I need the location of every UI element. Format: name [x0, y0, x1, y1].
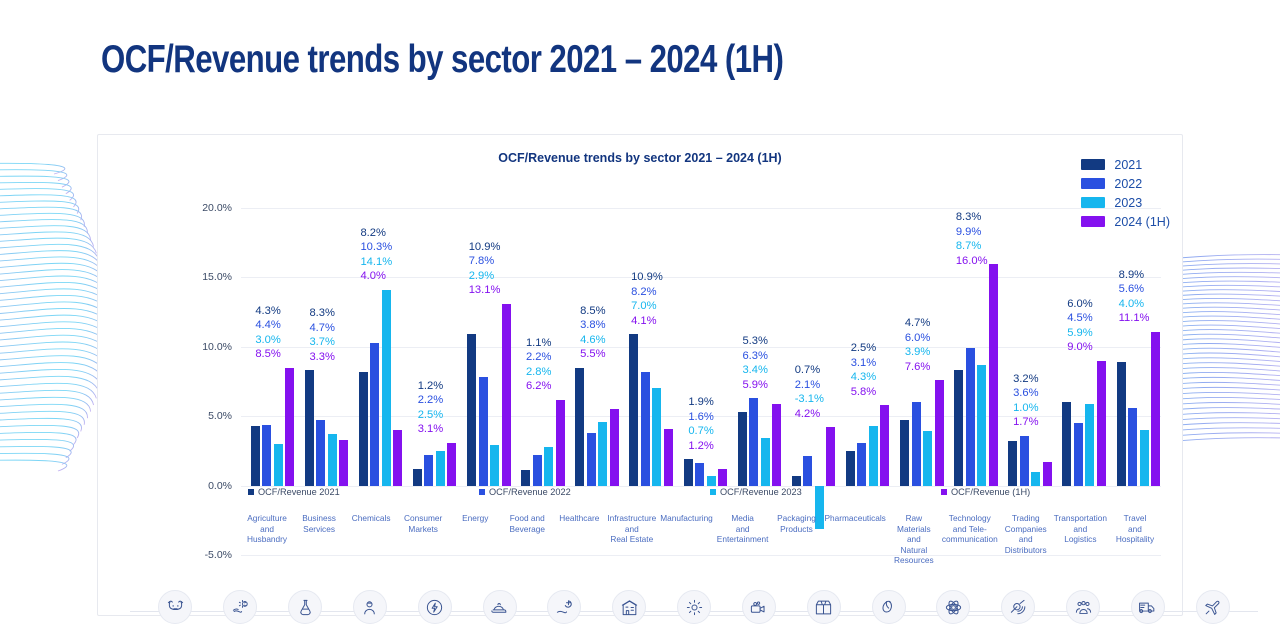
value-label-stack: 8.2%10.3%14.1%4.0% [360, 226, 392, 284]
truck-icon[interactable] [1131, 590, 1165, 624]
bar-2022[interactable] [912, 402, 921, 485]
plot-area: 20.0%15.0%10.0%5.0%0.0%-5.0% 4.3%4.4%3.0… [241, 208, 1161, 555]
value-label-stack: 2.5%3.1%4.3%5.8% [851, 341, 877, 399]
bars [1053, 208, 1107, 555]
chart-legend-bottom: OCF/Revenue 2021OCF/Revenue 2022OCF/Reve… [248, 487, 1172, 497]
pill-icon[interactable] [872, 590, 906, 624]
y-axis-tick: 10.0% [202, 341, 232, 353]
bar-2024-1h-[interactable] [718, 469, 727, 486]
category-label: TradingCompaniesandDistributors [1000, 513, 1052, 566]
bar-group: 1.1%2.2%2.8%6.2% [512, 208, 566, 555]
value-label: 4.4% [255, 318, 281, 333]
chart-title: OCF/Revenue trends by sector 2021 – 2024… [98, 151, 1182, 165]
bar-2021[interactable] [629, 334, 638, 485]
category-label: Healthcare [553, 513, 605, 566]
value-label: 5.9% [1067, 326, 1093, 341]
rail-icons [143, 590, 1245, 624]
value-label: 8.5% [255, 347, 281, 362]
value-label: 5.6% [1119, 282, 1150, 297]
page-title: OCF/Revenue trends by sector 2021 – 2024… [101, 38, 783, 82]
rail-icon-slot [1115, 590, 1180, 624]
bar-2024-1h-[interactable] [1043, 462, 1052, 486]
category-label: RawMaterialsandNaturalResources [888, 513, 940, 566]
bar-2022[interactable] [316, 420, 325, 485]
bars [891, 208, 945, 555]
bar-2023[interactable] [1031, 472, 1040, 486]
bar-group: 8.3%4.7%3.7%3.3% [295, 208, 349, 555]
cog-icon[interactable] [677, 590, 711, 624]
value-label: 6.0% [1067, 297, 1093, 312]
bar-2022[interactable] [749, 398, 758, 485]
value-label-stack: 10.9%8.2%7.0%4.1% [631, 270, 663, 328]
value-label: 4.7% [309, 321, 335, 336]
bar-2023[interactable] [274, 444, 283, 486]
y-axis-tick: 15.0% [202, 271, 232, 283]
value-label: 3.3% [309, 350, 335, 365]
rail-icon-slot [856, 590, 921, 624]
bar-2024-1h-[interactable] [610, 409, 619, 485]
bar-2024-1h-[interactable] [1097, 361, 1106, 486]
bars [674, 208, 728, 555]
rail-icon-slot [143, 590, 208, 624]
bar-2023[interactable] [923, 431, 932, 485]
legend-swatch-icon [1081, 197, 1105, 208]
value-label: 10.3% [360, 240, 392, 255]
bar-2024-1h-[interactable] [880, 405, 889, 486]
rail-icon-slot [597, 590, 662, 624]
value-label-stack: 5.3%6.3%3.4%5.9% [742, 334, 768, 392]
category-label: ConsumerMarkets [397, 513, 449, 566]
bar-2024-1h-[interactable] [285, 368, 294, 486]
value-label: 3.8% [580, 318, 606, 333]
value-label: -3.1% [795, 392, 824, 407]
bar-2021[interactable] [467, 334, 476, 485]
bar-2023[interactable] [652, 388, 661, 485]
bar-2022[interactable] [479, 377, 488, 485]
bars [620, 208, 674, 555]
value-label: 2.9% [469, 269, 501, 284]
bar-2021[interactable] [684, 459, 693, 485]
bar-groups: 4.3%4.4%3.0%8.5%8.3%4.7%3.7%3.3%8.2%10.3… [241, 208, 1161, 555]
value-label-stack: 8.9%5.6%4.0%11.1% [1119, 268, 1150, 326]
sector-icon-rail [130, 590, 1258, 632]
bar-2021[interactable] [521, 470, 530, 485]
value-label: 1.7% [1013, 415, 1039, 430]
y-axis-tick: 20.0% [202, 202, 232, 214]
value-label-stack: 8.3%4.7%3.7%3.3% [309, 306, 335, 364]
value-label: 16.0% [956, 254, 988, 269]
bars [295, 208, 349, 555]
bar-2022[interactable] [695, 463, 704, 485]
category-label: TravelandHospitality [1109, 513, 1161, 566]
legend-bottom-item[interactable]: OCF/Revenue 2022 [479, 487, 710, 497]
value-label: 6.2% [526, 379, 552, 394]
value-label: 3.9% [905, 345, 931, 360]
value-label: 7.8% [469, 254, 501, 269]
legend-swatch-icon [479, 489, 485, 495]
bar-group: 1.2%2.2%2.5%3.1% [403, 208, 457, 555]
rail-icon-slot [986, 590, 1051, 624]
bar-2024-1h-[interactable] [556, 400, 565, 486]
video-camera-icon[interactable] [742, 590, 776, 624]
value-label: 2.8% [526, 365, 552, 380]
legend-swatch-icon [1081, 159, 1105, 170]
bar-group: 10.9%7.8%2.9%13.1% [458, 208, 512, 555]
building-icon[interactable] [612, 590, 646, 624]
people-group-icon[interactable] [1066, 590, 1100, 624]
value-label: 0.7% [795, 363, 824, 378]
value-label: 4.3% [851, 370, 877, 385]
value-label: 8.2% [631, 285, 663, 300]
legend-bottom-item[interactable]: OCF/Revenue 2021 [248, 487, 479, 497]
legend-bottom-label: OCF/Revenue 2021 [258, 487, 340, 497]
bar-group: 2.5%3.1%4.3%5.8% [836, 208, 890, 555]
value-label-stack: 10.9%7.8%2.9%13.1% [469, 240, 501, 298]
value-label: 6.3% [742, 349, 768, 364]
bar-2021[interactable] [1062, 402, 1071, 485]
bar-group: 0.7%2.1%-3.1%4.2% [782, 208, 836, 555]
bar-2021[interactable] [738, 412, 747, 486]
bar-2023[interactable] [436, 451, 445, 486]
legend-item-2021[interactable]: 2021 [1081, 155, 1170, 174]
value-label: 9.9% [956, 225, 988, 240]
bar-2024-1h-[interactable] [339, 440, 348, 486]
category-label: TransportationandLogistics [1052, 513, 1109, 566]
bar-2024-1h-[interactable] [502, 304, 511, 486]
legend-bottom-label: OCF/Revenue 2023 [720, 487, 802, 497]
value-label: 8.3% [309, 306, 335, 321]
value-label: 13.1% [469, 283, 501, 298]
bar-group: 8.3%9.9%8.7%16.0% [945, 208, 999, 555]
bar-2024-1h-[interactable] [989, 264, 998, 486]
bar-2022[interactable] [370, 343, 379, 486]
value-label: 3.4% [742, 363, 768, 378]
value-label: 4.0% [1119, 297, 1150, 312]
value-label: 9.0% [1067, 340, 1093, 355]
gear-hand-icon[interactable] [223, 590, 257, 624]
bar-2021[interactable] [846, 451, 855, 486]
value-label: 4.3% [255, 304, 281, 319]
bar-2023[interactable] [761, 438, 770, 485]
bar-2021[interactable] [954, 370, 963, 485]
category-label: Agriculture andHusbandry [241, 513, 293, 566]
legend-bottom-label: OCF/Revenue 2022 [489, 487, 571, 497]
medical-cross-icon[interactable] [547, 590, 581, 624]
bar-2023[interactable] [977, 365, 986, 486]
value-label: 2.2% [526, 350, 552, 365]
value-label-stack: 4.7%6.0%3.9%7.6% [905, 316, 931, 374]
value-label: 7.0% [631, 299, 663, 314]
y-axis-tick: 5.0% [208, 410, 232, 422]
bar-2022[interactable] [262, 425, 271, 486]
bar-2021[interactable] [900, 420, 909, 485]
bar-group: 8.2%10.3%14.1%4.0% [349, 208, 403, 555]
value-label: 5.8% [851, 385, 877, 400]
rail-icon-slot [532, 590, 597, 624]
slide-canvas: OCF/Revenue trends by sector 2021 – 2024… [0, 0, 1280, 644]
bar-2021[interactable] [1117, 362, 1126, 486]
bar-2021[interactable] [1008, 441, 1017, 485]
category-label: Manufacturing [658, 513, 715, 566]
value-label: 4.1% [631, 314, 663, 329]
bar-2023[interactable] [328, 434, 337, 485]
bar-2021[interactable] [575, 368, 584, 486]
package-box-icon[interactable] [807, 590, 841, 624]
value-label: 5.5% [580, 347, 606, 362]
value-label: 8.7% [956, 239, 988, 254]
value-label: 1.2% [418, 379, 444, 394]
value-label: 4.5% [1067, 311, 1093, 326]
value-label: 1.6% [688, 410, 714, 425]
bar-2022[interactable] [857, 443, 866, 486]
legend-swatch-icon [710, 489, 716, 495]
food-icon[interactable] [483, 590, 517, 624]
category-label: BusinessServices [293, 513, 345, 566]
value-label: 2.1% [795, 378, 824, 393]
value-label: 3.1% [851, 356, 877, 371]
value-label: 4.2% [795, 407, 824, 422]
value-label: 5.3% [742, 334, 768, 349]
bar-2023[interactable] [544, 447, 553, 486]
bar-2024-1h-[interactable] [664, 429, 673, 486]
bars [1107, 208, 1161, 555]
bar-2022[interactable] [803, 456, 812, 485]
value-label-stack: 1.1%2.2%2.8%6.2% [526, 336, 552, 394]
rail-icon-slot [726, 590, 791, 624]
legend-swatch-icon [941, 489, 947, 495]
category-label: InfrastructureandReal Estate [605, 513, 658, 566]
bar-group: 4.7%6.0%3.9%7.6% [891, 208, 945, 555]
bar-2023[interactable] [598, 422, 607, 486]
category-label: Energy [449, 513, 501, 566]
value-label: 10.9% [469, 240, 501, 255]
bar-group: 3.2%3.6%1.0%1.7% [999, 208, 1053, 555]
legend-swatch-icon [248, 489, 254, 495]
value-label: 8.9% [1119, 268, 1150, 283]
bar-2021[interactable] [305, 370, 314, 485]
satellite-icon[interactable] [1001, 590, 1035, 624]
bar-2023[interactable] [1085, 404, 1094, 486]
legend-item-2022[interactable]: 2022 [1081, 174, 1170, 193]
value-label: 1.2% [688, 439, 714, 454]
flask-icon[interactable] [288, 590, 322, 624]
bars [241, 208, 295, 555]
value-label: 8.5% [580, 304, 606, 319]
bar-group: 5.3%6.3%3.4%5.9% [728, 208, 782, 555]
value-label: 2.5% [851, 341, 877, 356]
value-label: 1.9% [688, 395, 714, 410]
value-label-stack: 1.2%2.2%2.5%3.1% [418, 379, 444, 437]
value-label: 3.6% [1013, 386, 1039, 401]
legend-label: 2021 [1114, 158, 1142, 172]
value-label: 14.1% [360, 255, 392, 270]
bars [566, 208, 620, 555]
bar-group: 4.3%4.4%3.0%8.5% [241, 208, 295, 555]
rail-icon-slot [467, 590, 532, 624]
bar-group: 8.9%5.6%4.0%11.1% [1107, 208, 1161, 555]
value-label: 3.2% [1013, 372, 1039, 387]
atom-icon[interactable] [936, 590, 970, 624]
value-label-stack: 1.9%1.6%0.7%1.2% [688, 395, 714, 453]
rail-icon-slot [337, 590, 402, 624]
rail-icon-slot [921, 590, 986, 624]
legend-swatch-icon [1081, 178, 1105, 189]
category-label: Food andBeverage [501, 513, 553, 566]
bar-2022[interactable] [587, 433, 596, 486]
person-icon[interactable] [353, 590, 387, 624]
rail-icon-slot [791, 590, 856, 624]
bar-2024-1h-[interactable] [826, 427, 835, 485]
bar-2024-1h-[interactable] [1151, 332, 1160, 486]
bar-2024-1h-[interactable] [772, 404, 781, 486]
bar-2023[interactable] [869, 426, 878, 486]
legend-bottom-item[interactable]: OCF/Revenue (1H) [941, 487, 1172, 497]
value-label: 1.1% [526, 336, 552, 351]
bar-2021[interactable] [792, 476, 801, 486]
bar-2023[interactable] [707, 476, 716, 486]
airplane-icon[interactable] [1196, 590, 1230, 624]
category-label: Chemicals [345, 513, 397, 566]
value-label-stack: 4.3%4.4%3.0%8.5% [255, 304, 281, 362]
rail-icon-slot [208, 590, 273, 624]
cow-icon[interactable] [158, 590, 192, 624]
bar-group: 8.5%3.8%4.6%5.5% [566, 208, 620, 555]
value-label: 1.0% [1013, 401, 1039, 416]
rail-icon-slot [1051, 590, 1116, 624]
value-label-stack: 8.5%3.8%4.6%5.5% [580, 304, 606, 362]
bar-2024-1h-[interactable] [447, 443, 456, 486]
bar-group: 1.9%1.6%0.7%1.2% [674, 208, 728, 555]
bar-2023[interactable] [1140, 430, 1149, 486]
category-label: Pharmaceuticals [823, 513, 888, 566]
value-label: 5.9% [742, 378, 768, 393]
value-label: 8.2% [360, 226, 392, 241]
lightning-icon[interactable] [418, 590, 452, 624]
y-axis-tick: 0.0% [208, 480, 232, 492]
category-axis-labels: Agriculture andHusbandryBusinessServices… [241, 513, 1161, 566]
value-label: 6.0% [905, 331, 931, 346]
legend-bottom-item[interactable]: OCF/Revenue 2023 [710, 487, 941, 497]
rail-icon-slot [402, 590, 467, 624]
category-label: PackagingProducts [770, 513, 822, 566]
bar-2021[interactable] [359, 372, 368, 486]
value-label: 3.0% [255, 333, 281, 348]
value-label: 10.9% [631, 270, 663, 285]
value-label: 2.5% [418, 408, 444, 423]
rail-icon-slot [662, 590, 727, 624]
value-label: 4.7% [905, 316, 931, 331]
value-label-stack: 3.2%3.6%1.0%1.7% [1013, 372, 1039, 430]
category-label: Technologyand Tele-communication [940, 513, 1000, 566]
chart-card: OCF/Revenue trends by sector 2021 – 2024… [97, 134, 1183, 616]
value-label: 8.3% [956, 210, 988, 225]
value-label: 0.7% [688, 424, 714, 439]
category-label: MediaandEntertainment [715, 513, 771, 566]
value-label: 7.6% [905, 360, 931, 375]
value-label-stack: 6.0%4.5%5.9%9.0% [1067, 297, 1093, 355]
bar-2024-1h-[interactable] [935, 380, 944, 485]
value-label-stack: 8.3%9.9%8.7%16.0% [956, 210, 988, 268]
bar-2022[interactable] [641, 372, 650, 486]
value-label-stack: 0.7%2.1%-3.1%4.2% [795, 363, 824, 421]
bar-2023[interactable] [490, 445, 499, 485]
bar-2022[interactable] [966, 348, 975, 485]
bar-2022[interactable] [1020, 436, 1029, 486]
bar-group: 6.0%4.5%5.9%9.0% [1053, 208, 1107, 555]
legend-bottom-label: OCF/Revenue (1H) [951, 487, 1030, 497]
value-label: 3.7% [309, 335, 335, 350]
value-label: 2.2% [418, 393, 444, 408]
legend-label: 2022 [1114, 177, 1142, 191]
y-axis-tick: -5.0% [205, 549, 232, 561]
bar-2024-1h-[interactable] [393, 430, 402, 486]
bar-2022[interactable] [424, 455, 433, 486]
value-label: 3.1% [418, 422, 444, 437]
rail-icon-slot [273, 590, 338, 624]
value-label: 4.6% [580, 333, 606, 348]
value-label: 4.0% [360, 269, 392, 284]
value-label: 11.1% [1119, 311, 1150, 326]
bar-group: 10.9%8.2%7.0%4.1% [620, 208, 674, 555]
bar-2022[interactable] [1128, 408, 1137, 486]
rail-icon-slot [1180, 590, 1245, 624]
bar-2022[interactable] [1074, 423, 1083, 485]
bar-2022[interactable] [533, 455, 542, 486]
bar-2023[interactable] [382, 290, 391, 486]
bar-2021[interactable] [251, 426, 260, 486]
bar-2021[interactable] [413, 469, 422, 486]
